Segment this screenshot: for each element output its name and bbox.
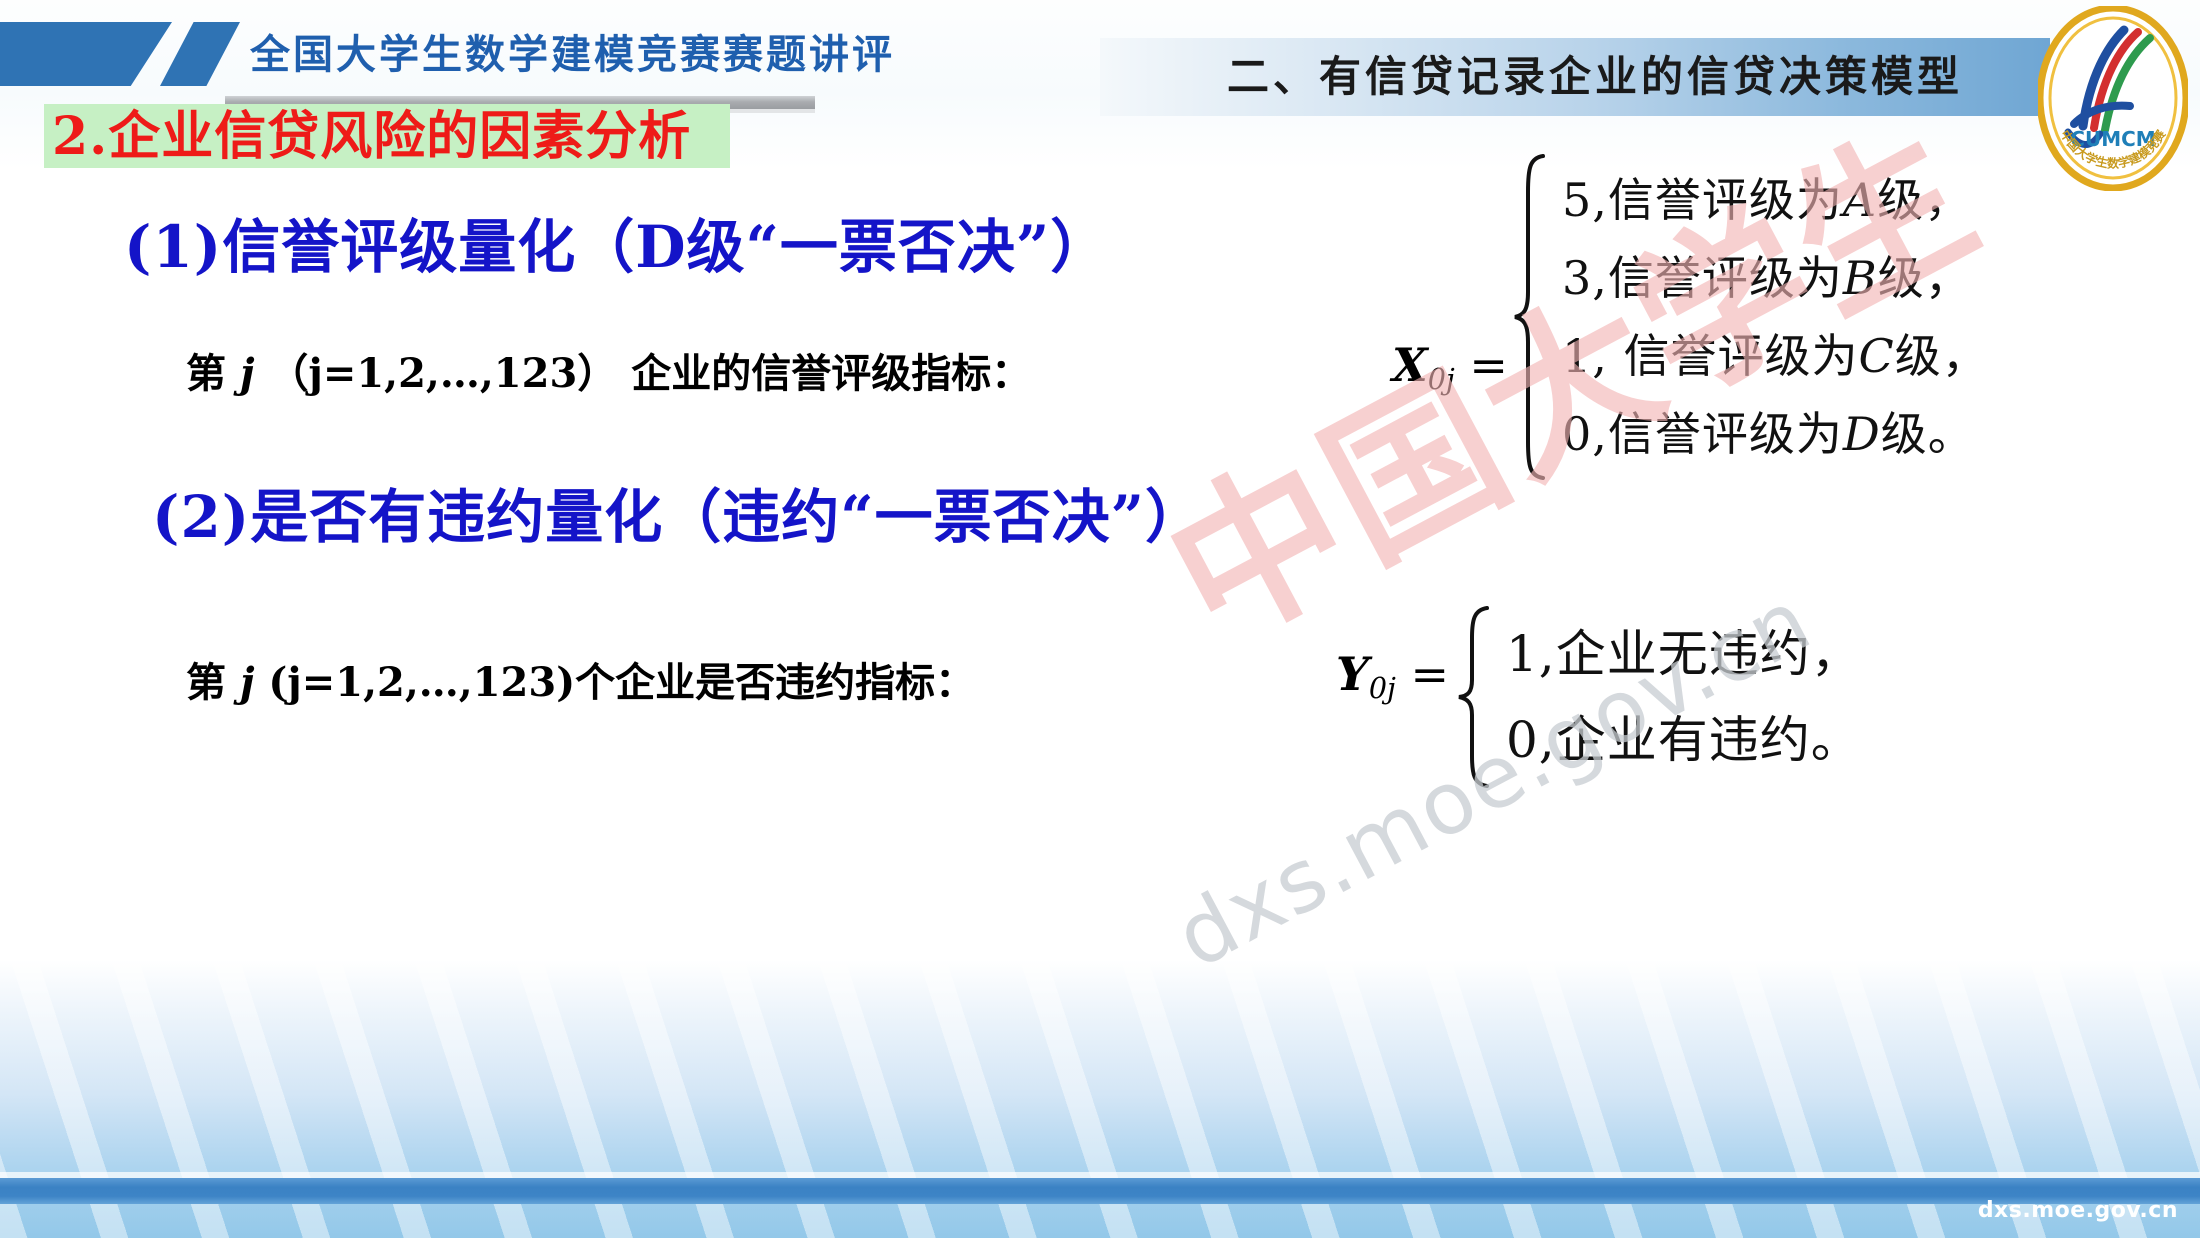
left-brace-icon (1456, 604, 1492, 790)
case-row: 0,信誉评级为D级。 (1562, 395, 1989, 473)
lead-suffix-1: 企业的信誉评级指标： (631, 350, 1031, 397)
section-1-heading: (1)信誉评级量化（D级“一票否决”） (124, 218, 1109, 276)
variable-x-symbol: X (1392, 338, 1428, 392)
section-1-lead-text: 第 j （j=1,2,…,123） 企业的信誉评级指标： (186, 341, 1031, 399)
piecewise-system-x: 5,信誉评级为A级， 3,信誉评级为B级， 1, 信誉评级为C级， 0,信誉评级… (1512, 152, 1989, 482)
lead-range-2: (j=1,2,…,123) (268, 659, 575, 706)
variable-y0j: Y0j = (1336, 647, 1449, 705)
equals-sign-1: = (1469, 338, 1508, 392)
header-left-title: 全国大学生数学建模竞赛赛题讲评 (250, 24, 1010, 86)
equals-sign-2: = (1410, 647, 1449, 701)
lead-var-1: j (240, 350, 254, 397)
case-row: 1,企业无违约， (1506, 611, 1862, 697)
case-text: 信誉评级为 (1608, 173, 1843, 227)
case-tail: ， (1811, 625, 1862, 683)
variable-y-subscript: 0j (1369, 672, 1396, 705)
case-tail: 级， (1878, 251, 1972, 305)
cumcm-logo-icon: CUMCM 中国大学生数学建模竞赛 (2038, 6, 2188, 191)
case-tail: 。 (1811, 711, 1862, 769)
case-tail: 级。 (1881, 407, 1975, 461)
case-text: 信誉评级为 (1608, 251, 1843, 305)
variable-y-symbol: Y (1336, 647, 1369, 701)
footer-url: dxs.moe.gov.cn (1978, 1198, 2178, 1223)
lead-prefix-1: 第 (186, 350, 226, 397)
case-text: 信誉评级为 (1608, 407, 1843, 461)
lead-prefix-2: 第 (186, 659, 226, 706)
page-title: 2.企业信贷风险的因素分析 (52, 100, 742, 174)
case-tail: 级， (1877, 173, 1971, 227)
case-value: 5, (1562, 173, 1608, 227)
case-row: 3,信誉评级为B级， (1562, 239, 1989, 317)
section-title-text: 二、有信贷记录企业的信贷决策模型 (1150, 38, 2040, 116)
lead-suffix-2: 个企业是否违约指标： (575, 659, 975, 706)
variable-x-subscript: 0j (1428, 363, 1455, 396)
case-text: 信誉评级为 (1608, 329, 1859, 383)
case-rows-x: 5,信誉评级为A级， 3,信誉评级为B级， 1, 信誉评级为C级， 0,信誉评级… (1562, 161, 1989, 473)
case-row: 0,企业有违约。 (1506, 697, 1862, 783)
section-2-lead-text: 第 j (j=1,2,…,123)个企业是否违约指标： (186, 650, 975, 708)
case-value: 0, (1562, 407, 1608, 461)
slide-canvas: 全国大学生数学建模竞赛赛题讲评 二、有信贷记录企业的信贷决策模型 CUMCM 中… (0, 0, 2200, 1238)
section-2-heading: (2)是否有违约量化（违约“一票否决”） (152, 488, 1204, 546)
case-row: 1, 信誉评级为C级， (1562, 317, 1989, 395)
case-letter: C (1859, 329, 1895, 383)
lead-var-2: j (240, 659, 254, 706)
lead-range-1: （j=1,2,…,123） (268, 350, 617, 397)
case-row: 5,信誉评级为A级， (1562, 161, 1989, 239)
case-text: 企业有违约 (1556, 711, 1811, 769)
left-brace-icon (1512, 152, 1548, 482)
background-blue-band (0, 1178, 2200, 1204)
case-tail: 级， (1895, 329, 1989, 383)
case-letter: D (1843, 407, 1881, 461)
case-value: 3, (1562, 251, 1608, 305)
piecewise-system-y: 1,企业无违约， 0,企业有违约。 (1456, 604, 1862, 790)
case-value: 0, (1506, 711, 1556, 769)
case-value: 1, (1506, 625, 1556, 683)
variable-x0j: X0j = (1392, 338, 1508, 396)
case-letter: A (1843, 173, 1877, 227)
case-value: 1, (1562, 329, 1608, 383)
case-text: 企业无违约 (1556, 625, 1811, 683)
case-letter: B (1843, 251, 1878, 305)
case-rows-y: 1,企业无违约， 0,企业有违约。 (1506, 611, 1862, 783)
